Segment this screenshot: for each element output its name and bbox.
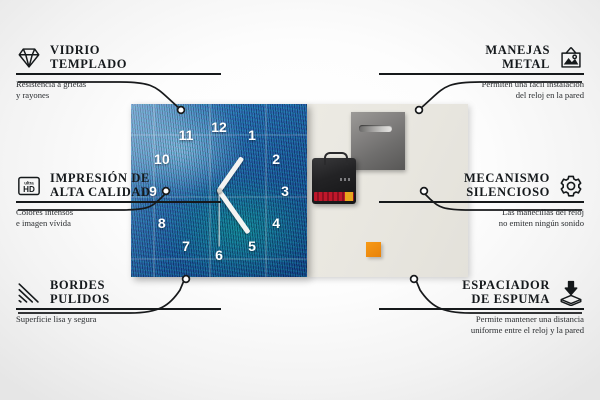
hanger-slot xyxy=(359,125,392,132)
feature-title-line1: ESPACIADOR xyxy=(462,279,550,293)
foam-spacer-icon xyxy=(558,280,584,306)
feature-title-line2: ALTA CALIDAD xyxy=(50,186,151,200)
gear-icon xyxy=(558,173,584,199)
feature-mecanismo-silencioso: MECANISMO SILENCIOSO Las manecillas del … xyxy=(379,172,584,230)
ultra-hd-badge-icon: ultra HD xyxy=(16,173,42,199)
feature-description: Superficie lisa y segura xyxy=(16,310,221,326)
svg-text:HD: HD xyxy=(23,185,35,194)
clock-numeral: 10 xyxy=(154,152,170,166)
feature-description: Permiten una fácil instalación del reloj… xyxy=(379,75,584,102)
feature-title-line1: MECANISMO xyxy=(464,172,550,186)
feature-espaciador-espuma: ESPACIADOR DE ESPUMA Permite mantener un… xyxy=(379,279,584,337)
clock-numeral: 6 xyxy=(215,248,223,262)
clock-movement-unit xyxy=(312,158,356,204)
feature-title-line1: IMPRESIÓN DE xyxy=(50,172,151,186)
wall-frame-icon xyxy=(558,45,584,71)
infographic-canvas: 121234567891011 xyxy=(0,0,600,400)
polished-edge-icon xyxy=(16,280,42,306)
orange-foam-spacer xyxy=(366,242,381,257)
feature-bordes-pulidos: BORDES PULIDOS Superficie lisa y segura xyxy=(16,279,221,325)
movement-hook xyxy=(324,152,348,165)
feature-title-line2: PULIDOS xyxy=(50,293,110,307)
battery-label xyxy=(314,192,354,201)
feature-title-line2: SILENCIOSO xyxy=(464,186,550,200)
diamond-icon xyxy=(16,45,42,71)
clock-numeral: 3 xyxy=(281,184,289,198)
feature-description: Las manecillas del reloj no emiten ningú… xyxy=(379,203,584,230)
feature-manejas-metal: MANEJAS METAL Permiten una fácil instala… xyxy=(379,44,584,102)
feature-title-line1: MANEJAS xyxy=(485,44,550,58)
feature-description: Resistencia a grietas y rayones xyxy=(16,75,221,102)
feature-title-line1: VIDRIO xyxy=(50,44,127,58)
feature-title-line2: DE ESPUMA xyxy=(462,293,550,307)
feature-title-line2: TEMPLADO xyxy=(50,58,127,72)
clock-numeral: 1 xyxy=(248,128,256,142)
feature-description: Colores intensos e imagen vívida xyxy=(16,203,221,230)
metal-hanger-plate xyxy=(351,112,405,170)
movement-vents xyxy=(340,178,352,181)
clock-numeral: 12 xyxy=(211,120,227,134)
clock-numeral: 7 xyxy=(182,239,190,253)
clock-numeral: 5 xyxy=(248,239,256,253)
clock-numeral: 4 xyxy=(272,216,280,230)
feature-title-line1: BORDES xyxy=(50,279,110,293)
feature-impresion-alta-calidad: ultra HD IMPRESIÓN DE ALTA CALIDAD Color… xyxy=(16,172,221,230)
feature-title-line2: METAL xyxy=(485,58,550,72)
clock-numeral: 11 xyxy=(179,128,194,142)
feature-vidrio-templado: VIDRIO TEMPLADO Resistencia a grietas y … xyxy=(16,44,221,102)
clock-numeral: 2 xyxy=(272,152,280,166)
feature-description: Permite mantener una distancia uniforme … xyxy=(379,310,584,337)
